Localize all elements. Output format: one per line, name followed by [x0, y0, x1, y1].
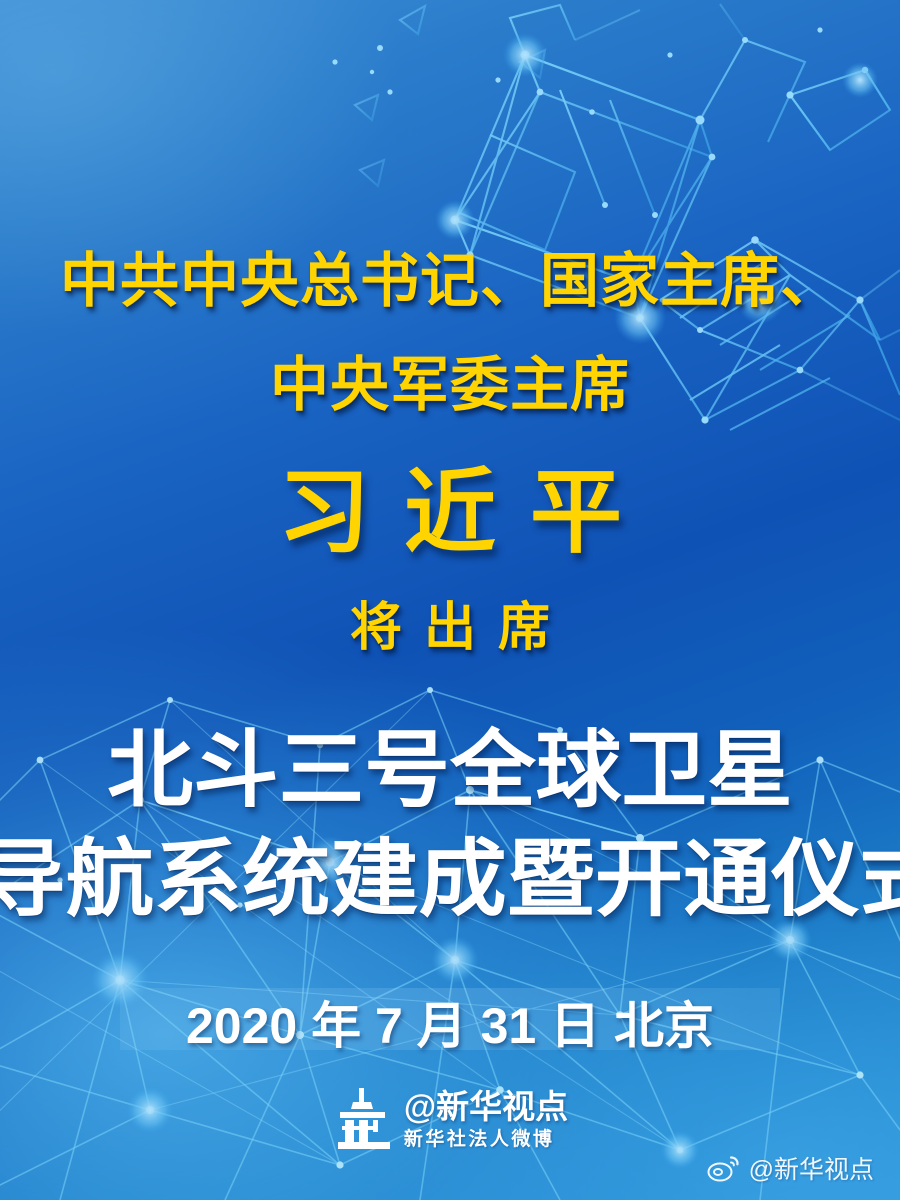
poster-content: 中共中央总书记、国家主席、 中央军委主席 习近平 将出席 北斗三号全球卫星 导航…: [0, 0, 900, 1200]
weibo-watermark: @新华视点: [707, 1150, 874, 1186]
title-line-2: 中央军委主席: [0, 337, 900, 422]
headline-line-2: 导航系统建成暨开通仪式: [0, 812, 900, 933]
logo-main-text: @新华视点: [404, 1090, 568, 1123]
weibo-icon: [707, 1153, 741, 1183]
logo-sub-text: 新华社法人微博: [404, 1130, 555, 1149]
logo-text-block: @新华视点 新华社法人微博: [404, 1090, 568, 1149]
title-line-1: 中共中央总书记、国家主席、: [0, 233, 900, 318]
leader-name: 习近平: [0, 438, 900, 571]
attend-label: 将出席: [0, 585, 900, 660]
headline-line-1: 北斗三号全球卫星: [0, 703, 900, 824]
xinhua-logo: @新华视点 新华社法人微博: [0, 1086, 900, 1152]
xinhua-tower-icon: [332, 1086, 394, 1152]
watermark-text: @新华视点: [749, 1150, 874, 1186]
date-place-label: 2020 年 7 月 31 日 北京: [0, 986, 900, 1058]
poster-canvas: 中共中央总书记、国家主席、 中央军委主席 习近平 将出席 北斗三号全球卫星 导航…: [0, 0, 900, 1200]
